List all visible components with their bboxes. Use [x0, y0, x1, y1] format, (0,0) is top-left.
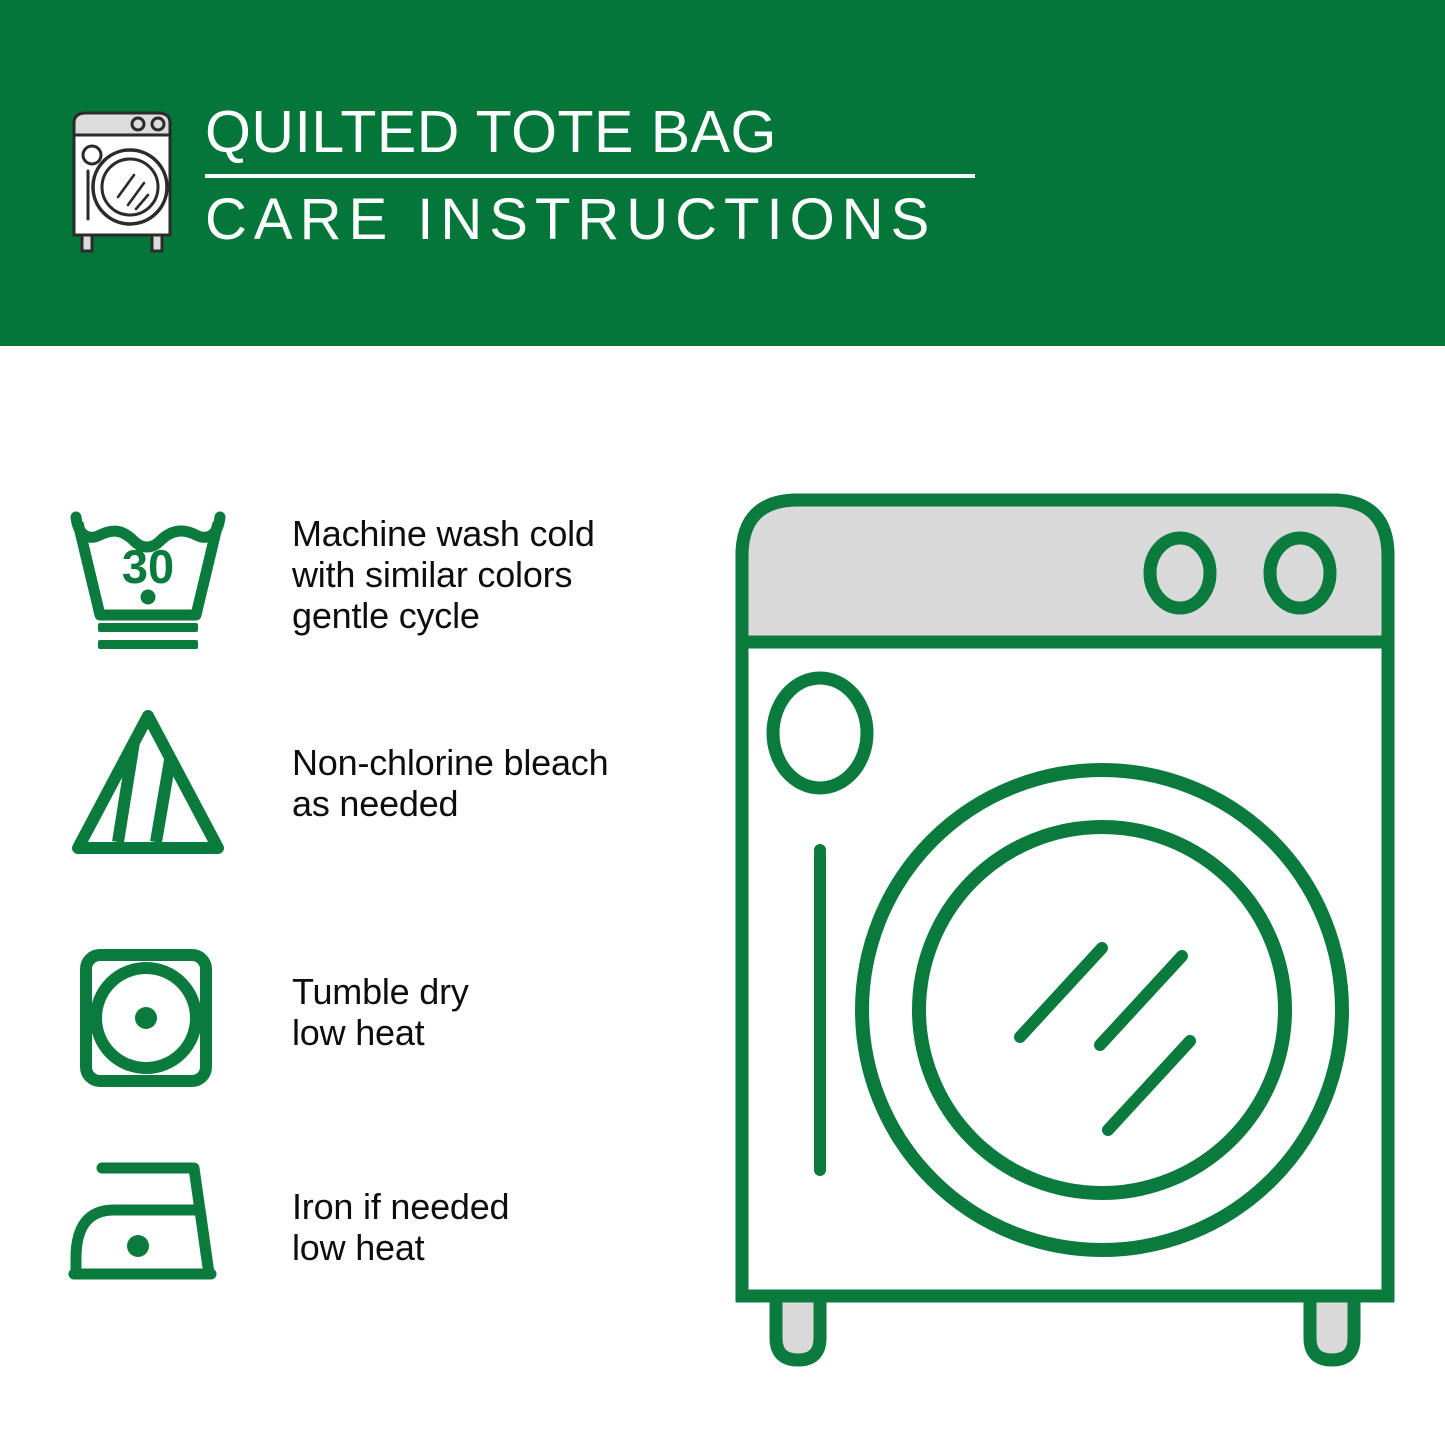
care-item: Iron if needed low heat [66, 1146, 686, 1351]
care-item-line: low heat [292, 1227, 686, 1268]
care-item-text: Machine wash cold with similar colors ge… [292, 513, 686, 636]
wash-tub-30-gentle-icon: 30 [66, 501, 231, 661]
care-item: Tumble dry low heat [66, 941, 686, 1146]
care-item-line: gentle cycle [292, 595, 686, 636]
tumble-dry-low-icon [66, 941, 231, 1101]
care-item-text: Non-chlorine bleach as needed [292, 742, 686, 824]
header-text-block: QUILTED TOTE BAG CARE INSTRUCTIONS [205, 96, 995, 268]
page-subtitle: CARE INSTRUCTIONS [205, 186, 995, 254]
care-item-line: low heat [292, 1012, 686, 1053]
care-item-line: Machine wash cold [292, 513, 686, 554]
care-instructions-page: QUILTED TOTE BAG CARE INSTRUCTIONS 30 [0, 0, 1445, 1445]
care-item-line: Iron if needed [292, 1186, 686, 1227]
care-item-line: with similar colors [292, 554, 686, 595]
non-chlorine-bleach-triangle-icon [66, 706, 231, 866]
iron-low-heat-icon [66, 1146, 231, 1306]
washing-machine-icon [62, 105, 182, 255]
front-load-washing-machine-illustration [720, 470, 1410, 1370]
wash-temperature-label: 30 [122, 540, 174, 593]
page-title: QUILTED TOTE BAG [205, 96, 995, 168]
header-divider [205, 174, 975, 178]
care-item: Non-chlorine bleach as needed [66, 706, 686, 911]
care-item-text: Iron if needed low heat [292, 1186, 686, 1268]
care-item-text: Tumble dry low heat [292, 971, 686, 1053]
care-item-line: as needed [292, 783, 686, 824]
care-item-line: Non-chlorine bleach [292, 742, 686, 783]
header-banner: QUILTED TOTE BAG CARE INSTRUCTIONS [0, 0, 1445, 346]
care-item-line: Tumble dry [292, 971, 686, 1012]
care-instruction-list: 30 Machine wash cold with similar colors… [0, 346, 700, 1445]
care-item: 30 Machine wash cold with similar colors… [66, 501, 686, 706]
